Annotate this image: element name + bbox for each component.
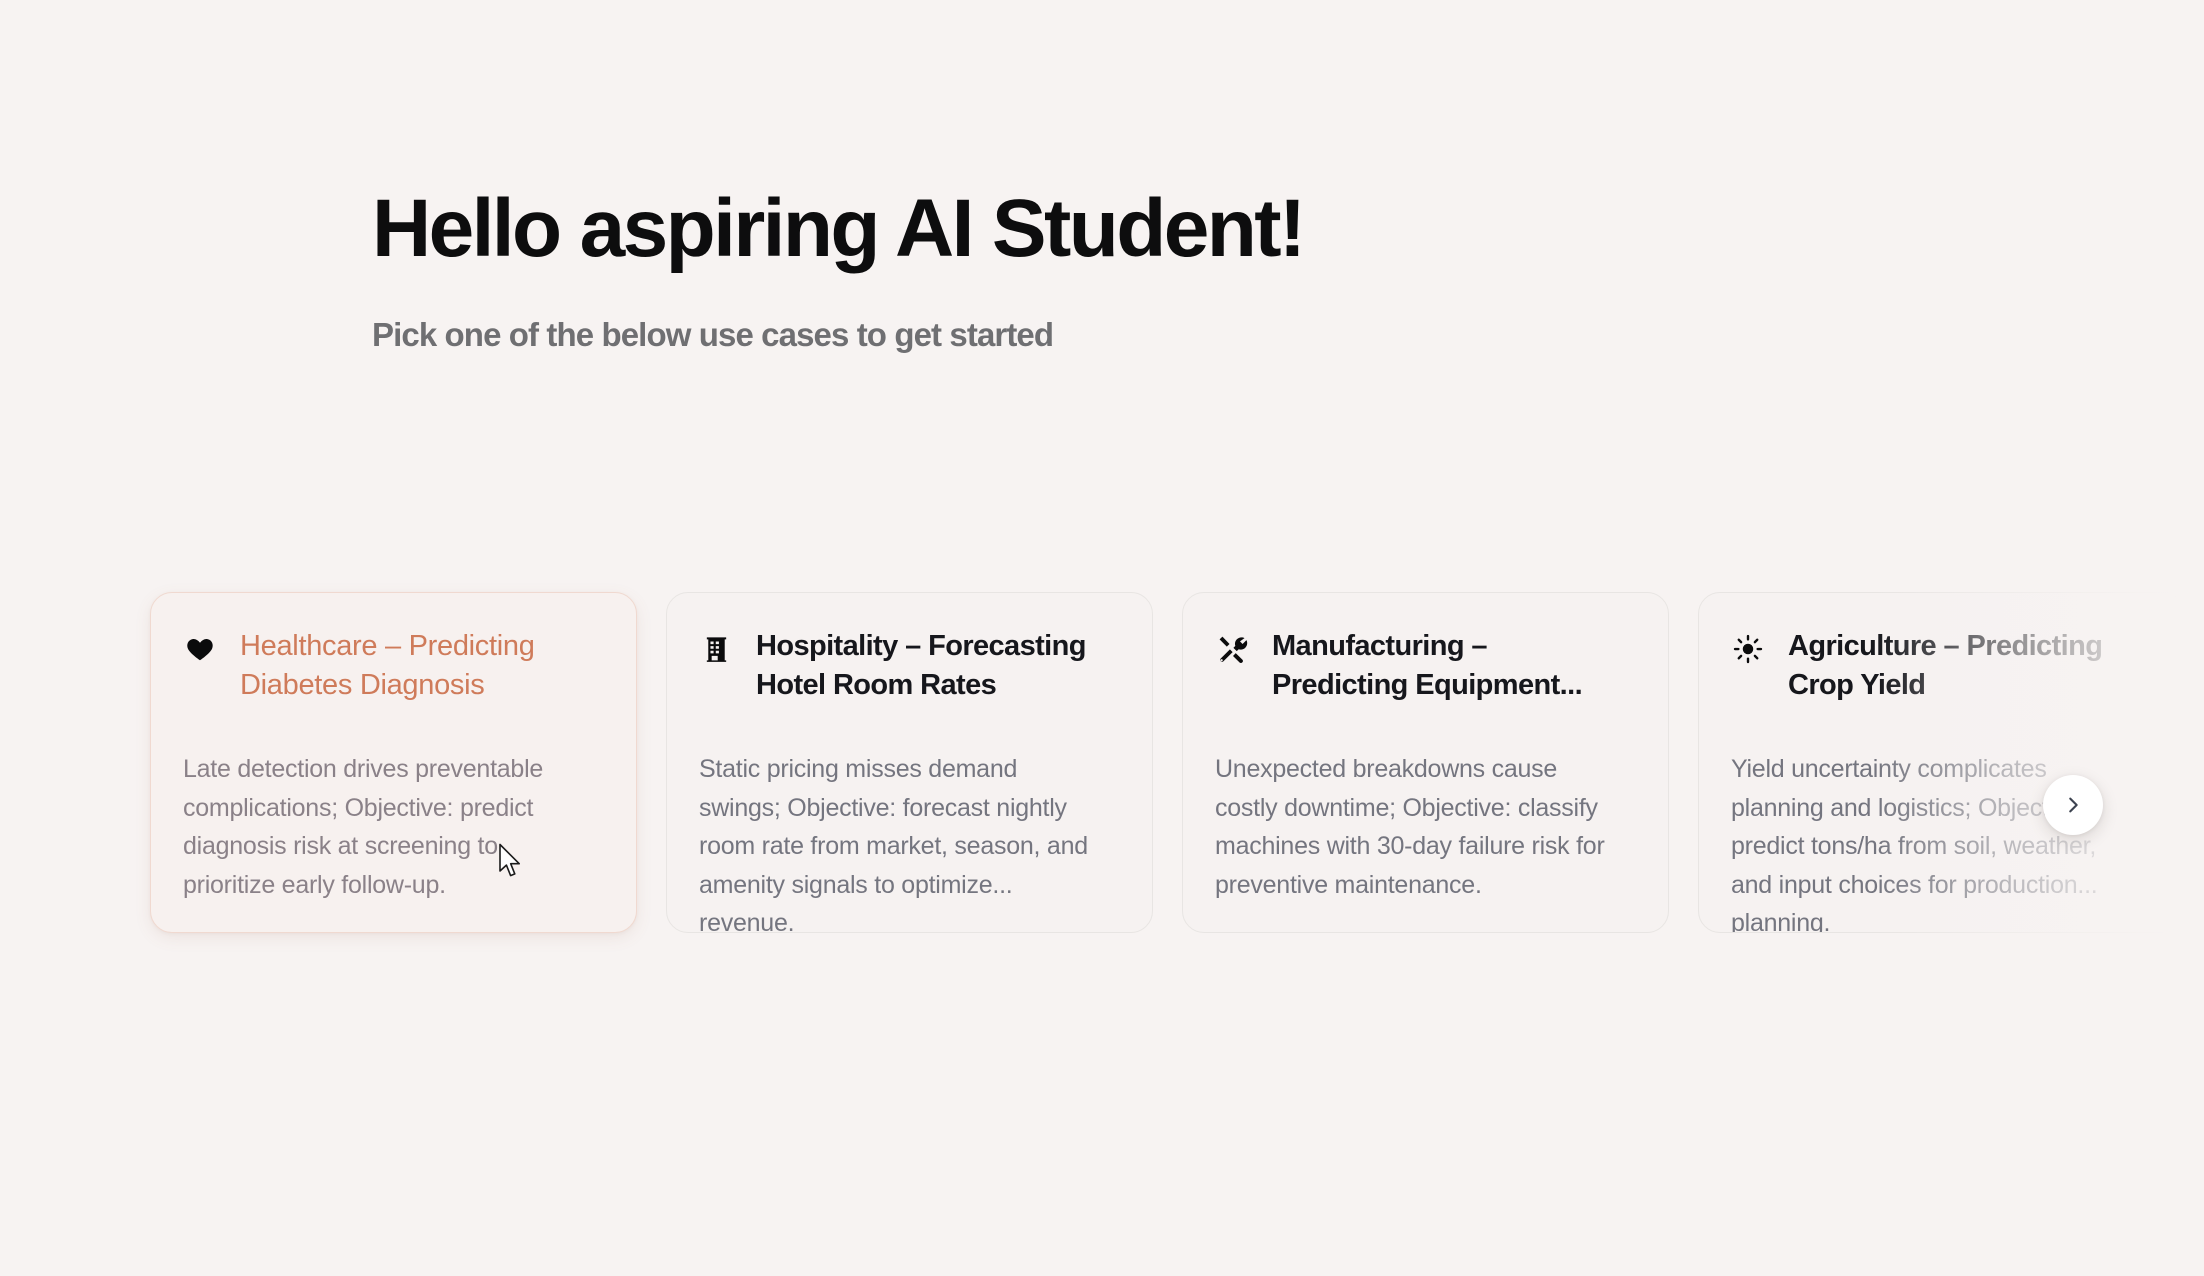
usecase-carousel[interactable]: Healthcare – Predicting Diabetes Diagnos… <box>0 592 2204 952</box>
page-header: Hello aspiring AI Student! Pick one of t… <box>0 0 2204 355</box>
building-icon <box>699 632 733 666</box>
carousel-next-button[interactable] <box>2043 775 2103 835</box>
usecase-card-agriculture[interactable]: Agriculture – Predicting Crop Yield Yiel… <box>1698 592 2185 933</box>
card-description: Unexpected breakdowns cause costly downt… <box>1215 750 1610 904</box>
tools-icon <box>1215 632 1249 666</box>
card-header: Healthcare – Predicting Diabetes Diagnos… <box>183 627 604 704</box>
page-title: Hello aspiring AI Student! <box>372 186 2204 271</box>
usecase-card-hospitality[interactable]: Hospitality – Forecasting Hotel Room Rat… <box>666 592 1153 933</box>
page-subtitle: Pick one of the below use cases to get s… <box>372 315 2204 355</box>
usecase-card-healthcare[interactable]: Healthcare – Predicting Diabetes Diagnos… <box>150 592 637 933</box>
card-title: Hospitality – Forecasting Hotel Room Rat… <box>756 627 1101 704</box>
card-title: Agriculture – Predicting Crop Yield <box>1788 627 2133 704</box>
carousel-track[interactable]: Healthcare – Predicting Diabetes Diagnos… <box>150 592 2185 933</box>
card-header: Hospitality – Forecasting Hotel Room Rat… <box>699 627 1120 704</box>
heart-icon <box>183 632 217 666</box>
card-title: Healthcare – Predicting Diabetes Diagnos… <box>240 627 585 704</box>
usecase-card-manufacturing[interactable]: Manufacturing – Predicting Equipment... … <box>1182 592 1669 933</box>
card-description: Late detection drives preventable compli… <box>183 750 578 904</box>
sun-icon <box>1731 632 1765 666</box>
card-header: Agriculture – Predicting Crop Yield <box>1731 627 2152 704</box>
card-title: Manufacturing – Predicting Equipment... <box>1272 627 1617 704</box>
card-header: Manufacturing – Predicting Equipment... <box>1215 627 1636 704</box>
card-description: Static pricing misses demand swings; Obj… <box>699 750 1094 933</box>
chevron-right-icon <box>2062 794 2084 816</box>
